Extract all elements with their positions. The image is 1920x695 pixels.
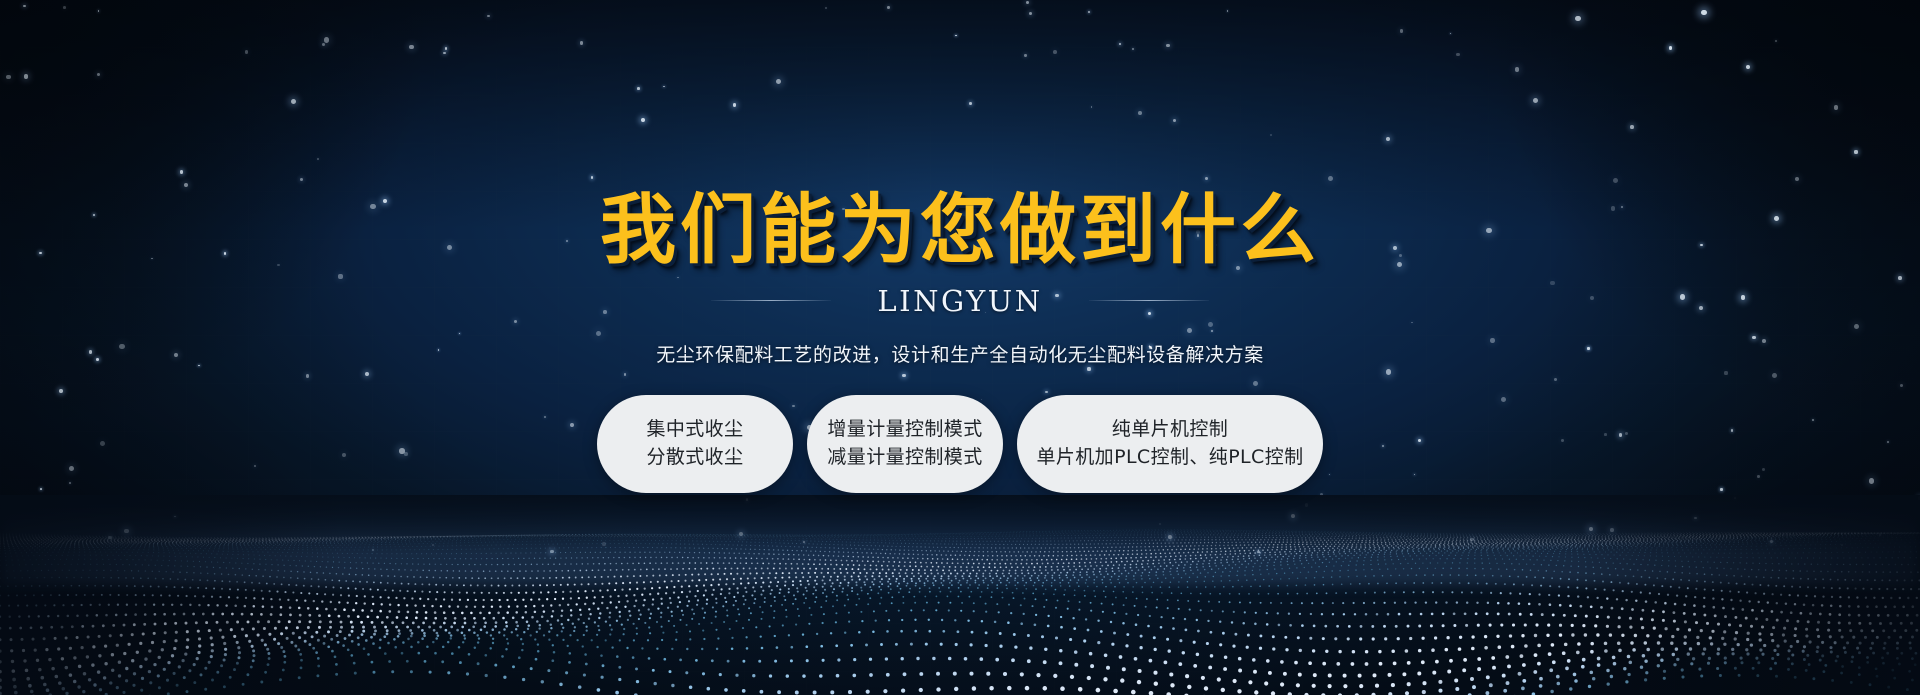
divider-right <box>1089 300 1209 301</box>
pill-line-1: 集中式收尘 <box>646 419 743 440</box>
hero-banner: 我们能为您做到什么 LINGYUN 无尘环保配料工艺的改进，设计和生产全自动化无… <box>0 0 1920 695</box>
pill-line-2: 分散式收尘 <box>646 447 743 468</box>
feature-pill-dust-collection[interactable]: 集中式收尘 分散式收尘 <box>597 395 793 493</box>
page-title: 我们能为您做到什么 <box>600 190 1320 270</box>
feature-pill-control-system[interactable]: 纯单片机控制 单片机加PLC控制、纯PLC控制 <box>1017 395 1323 493</box>
pill-line-1: 纯单片机控制 <box>1112 419 1228 440</box>
banner-description: 无尘环保配料工艺的改进，设计和生产全自动化无尘配料设备解决方案 <box>656 340 1264 367</box>
brand-subtitle: LINGYUN <box>877 284 1042 318</box>
subtitle-row: LINGYUN <box>711 284 1208 318</box>
banner-content: 我们能为您做到什么 LINGYUN 无尘环保配料工艺的改进，设计和生产全自动化无… <box>0 0 1920 695</box>
divider-left <box>711 300 831 301</box>
feature-pill-row: 集中式收尘 分散式收尘 增量计量控制模式 减量计量控制模式 纯单片机控制 单片机… <box>597 395 1323 493</box>
pill-line-2: 减量计量控制模式 <box>827 447 982 468</box>
feature-pill-metering-mode[interactable]: 增量计量控制模式 减量计量控制模式 <box>807 395 1003 493</box>
pill-line-1: 增量计量控制模式 <box>827 419 982 440</box>
pill-line-2: 单片机加PLC控制、纯PLC控制 <box>1036 447 1303 468</box>
